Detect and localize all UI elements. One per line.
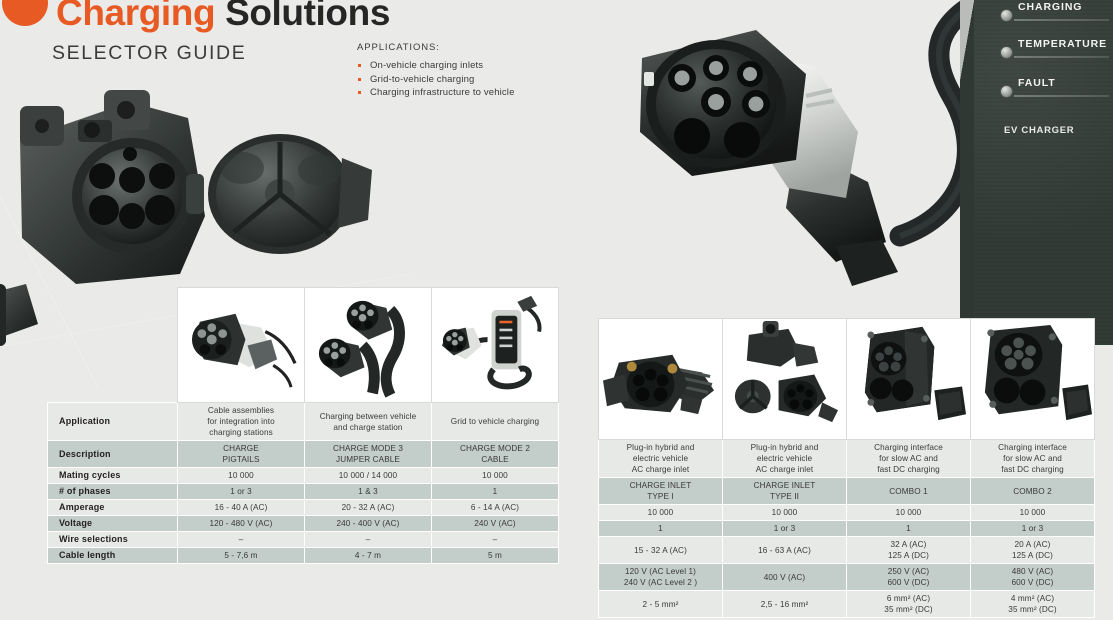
- cell-voltage-col2: 240 - 400 V (AC): [305, 516, 432, 532]
- table-row-application: Plug-in hybrid and electric vehicle AC c…: [599, 440, 1095, 478]
- cell-wire-selections-col3: –: [432, 532, 559, 548]
- cell-phases-col3: 1: [432, 484, 559, 500]
- cell-phases-col3: 1: [847, 521, 971, 537]
- table-row-phases: # of phases 1 or 3 1 & 3 1: [48, 484, 559, 500]
- cell-application-col3: Charging interface for slow AC and fast …: [847, 440, 971, 478]
- cell-mating-cycles-col1: 10 000: [178, 468, 305, 484]
- page-title: Charging Solutions: [56, 0, 390, 34]
- cell-mating-cycles-col4: 10 000: [971, 505, 1095, 521]
- table-row-amperage: Amperage 16 - 40 A (AC) 20 - 32 A (AC) 6…: [48, 500, 559, 516]
- cell-amperage-col2: 20 - 32 A (AC): [305, 500, 432, 516]
- led-temperature-line: [1014, 56, 1109, 58]
- indicator-label-fault: FAULT: [1018, 77, 1056, 89]
- table-row-voltage: 120 V (AC Level 1) 240 V (AC Level 2 ) 4…: [599, 564, 1095, 591]
- row-label-description: Description: [48, 441, 178, 468]
- cell-wire-selections-col2: –: [305, 532, 432, 548]
- table-row-phases: 1 1 or 3 1 1 or 3: [599, 521, 1095, 537]
- table-row-wire-selections: 2 - 5 mm² 2,5 - 16 mm² 6 mm² (AC) 35 mm²…: [599, 591, 1095, 618]
- cell-description-col2: CHARGE MODE 3 JUMPER CABLE: [305, 441, 432, 468]
- cell-application-col4: Charging interface for slow AC and fast …: [971, 440, 1095, 478]
- cell-description-col3: CHARGE MODE 2 CABLE: [432, 441, 559, 468]
- page-subtitle: SELECTOR GUIDE: [52, 42, 246, 65]
- table-row-voltage: Voltage 120 - 480 V (AC) 240 - 400 V (AC…: [48, 516, 559, 532]
- spacer-cell: [48, 288, 178, 403]
- cell-application-col1: Plug-in hybrid and electric vehicle AC c…: [599, 440, 723, 478]
- cell-mating-cycles-col2: 10 000 / 14 000: [305, 468, 432, 484]
- product-photo-charge-inlet-type2: [723, 319, 847, 440]
- row-label-phases: # of phases: [48, 484, 178, 500]
- cell-wire-selections-col1: –: [178, 532, 305, 548]
- list-item: On-vehicle charging inlets: [357, 59, 587, 73]
- row-label-mating-cycles: Mating cycles: [48, 468, 178, 484]
- led-fault-icon: [1000, 85, 1013, 98]
- cell-voltage-col4: 480 V (AC) 600 V (DC): [971, 564, 1095, 591]
- cell-voltage-col3: 250 V (AC) 600 V (DC): [847, 564, 971, 591]
- table-row-mating-cycles: Mating cycles 10 000 10 000 / 14 000 10 …: [48, 468, 559, 484]
- cell-mating-cycles-col1: 10 000: [599, 505, 723, 521]
- cell-mating-cycles-col3: 10 000: [432, 468, 559, 484]
- row-label-application: Application: [48, 403, 178, 441]
- cell-description-col3: COMBO 1: [847, 478, 971, 505]
- applications-title: APPLICATIONS:: [357, 42, 587, 53]
- cell-amperage-col1: 16 - 40 A (AC): [178, 500, 305, 516]
- cell-application-col2: Plug-in hybrid and electric vehicle AC c…: [723, 440, 847, 478]
- cell-wire-selections-col3: 6 mm² (AC) 35 mm² (DC): [847, 591, 971, 618]
- cell-phases-col2: 1 or 3: [723, 521, 847, 537]
- cell-phases-col1: 1 or 3: [178, 484, 305, 500]
- product-photo-mode3-jumper-cable: [305, 288, 432, 403]
- table-row-photos: [48, 288, 559, 403]
- cell-description-col2: CHARGE INLET TYPE II: [723, 478, 847, 505]
- table-row-application: Application Cable assemblies for integra…: [48, 403, 559, 441]
- cell-cable-length-col3: 5 m: [432, 548, 559, 564]
- cell-amperage-col3: 32 A (AC) 125 A (DC): [847, 537, 971, 564]
- led-temperature-icon: [1000, 46, 1013, 59]
- page-title-accent: Charging: [56, 0, 215, 33]
- cell-voltage-col1: 120 V (AC Level 1) 240 V (AC Level 2 ): [599, 564, 723, 591]
- row-label-wire-selections: Wire selections: [48, 532, 178, 548]
- cell-amperage-col4: 20 A (AC) 125 A (DC): [971, 537, 1095, 564]
- cell-phases-col1: 1: [599, 521, 723, 537]
- table-row-amperage: 15 - 32 A (AC) 16 - 63 A (AC) 32 A (AC) …: [599, 537, 1095, 564]
- cell-mating-cycles-col2: 10 000: [723, 505, 847, 521]
- row-label-amperage: Amperage: [48, 500, 178, 516]
- row-label-cable-length: Cable length: [48, 548, 178, 564]
- table-row-description: Description CHARGE PIGTAILS CHARGE MODE …: [48, 441, 559, 468]
- cell-amperage-col1: 15 - 32 A (AC): [599, 537, 723, 564]
- cell-description-col1: CHARGE PIGTAILS: [178, 441, 305, 468]
- ev-charger-brand-label: EV CHARGER: [1004, 125, 1074, 136]
- cell-description-col1: CHARGE INLET TYPE I: [599, 478, 723, 505]
- product-photo-combo2-inlet: [971, 319, 1095, 440]
- cell-cable-length-col2: 4 - 7 m: [305, 548, 432, 564]
- cell-amperage-col3: 6 - 14 A (AC): [432, 500, 559, 516]
- table-row-photos: [599, 319, 1095, 440]
- cell-phases-col4: 1 or 3: [971, 521, 1095, 537]
- cell-application-col2: Charging between vehicle and charge stat…: [305, 403, 432, 441]
- cell-mating-cycles-col3: 10 000: [847, 505, 971, 521]
- cell-phases-col2: 1 & 3: [305, 484, 432, 500]
- table-row-cable-length: Cable length 5 - 7,6 m 4 - 7 m 5 m: [48, 548, 559, 564]
- right-selector-table: Plug-in hybrid and electric vehicle AC c…: [598, 318, 1095, 618]
- cell-voltage-col1: 120 - 480 V (AC): [178, 516, 305, 532]
- table-row-mating-cycles: 10 000 10 000 10 000 10 000: [599, 505, 1095, 521]
- indicator-label-temperature: TEMPERATURE: [1018, 38, 1107, 50]
- cell-wire-selections-col4: 4 mm² (AC) 35 mm² (DC): [971, 591, 1095, 618]
- led-charging-line: [1014, 19, 1109, 21]
- product-photo-charge-inlet-type1: [599, 319, 723, 440]
- cell-wire-selections-col2: 2,5 - 16 mm²: [723, 591, 847, 618]
- list-item: Charging infrastructure to vehicle: [357, 86, 587, 100]
- indicator-label-charging: CHARGING: [1018, 1, 1082, 13]
- cell-wire-selections-col1: 2 - 5 mm²: [599, 591, 723, 618]
- cell-voltage-col2: 400 V (AC): [723, 564, 847, 591]
- ev-charger-wall-unit: CHARGING TEMPERATURE FAULT EV CHARGER: [960, 0, 1113, 345]
- page-title-main: Solutions: [215, 0, 390, 33]
- table-row-description: CHARGE INLET TYPE I CHARGE INLET TYPE II…: [599, 478, 1095, 505]
- product-photo-charge-pigtail: [178, 288, 305, 403]
- table-row-wire-selections: Wire selections – – –: [48, 532, 559, 548]
- list-item: Grid-to-vehicle charging: [357, 73, 587, 87]
- product-photo-combo1-inlet: [847, 319, 971, 440]
- cell-description-col4: COMBO 2: [971, 478, 1095, 505]
- cell-voltage-col3: 240 V (AC): [432, 516, 559, 532]
- cell-cable-length-col1: 5 - 7,6 m: [178, 548, 305, 564]
- product-photo-mode2-portable-cable: [432, 288, 559, 403]
- led-charging-icon: [1000, 9, 1013, 22]
- applications-list: On-vehicle charging inlets Grid-to-vehic…: [357, 59, 587, 100]
- cell-application-col3: Grid to vehicle charging: [432, 403, 559, 441]
- cell-application-col1: Cable assemblies for integration into ch…: [178, 403, 305, 441]
- led-fault-line: [1014, 95, 1109, 97]
- row-label-voltage: Voltage: [48, 516, 178, 532]
- cell-amperage-col2: 16 - 63 A (AC): [723, 537, 847, 564]
- left-selector-table: Application Cable assemblies for integra…: [47, 287, 559, 564]
- applications-block: APPLICATIONS: On-vehicle charging inlets…: [357, 42, 587, 100]
